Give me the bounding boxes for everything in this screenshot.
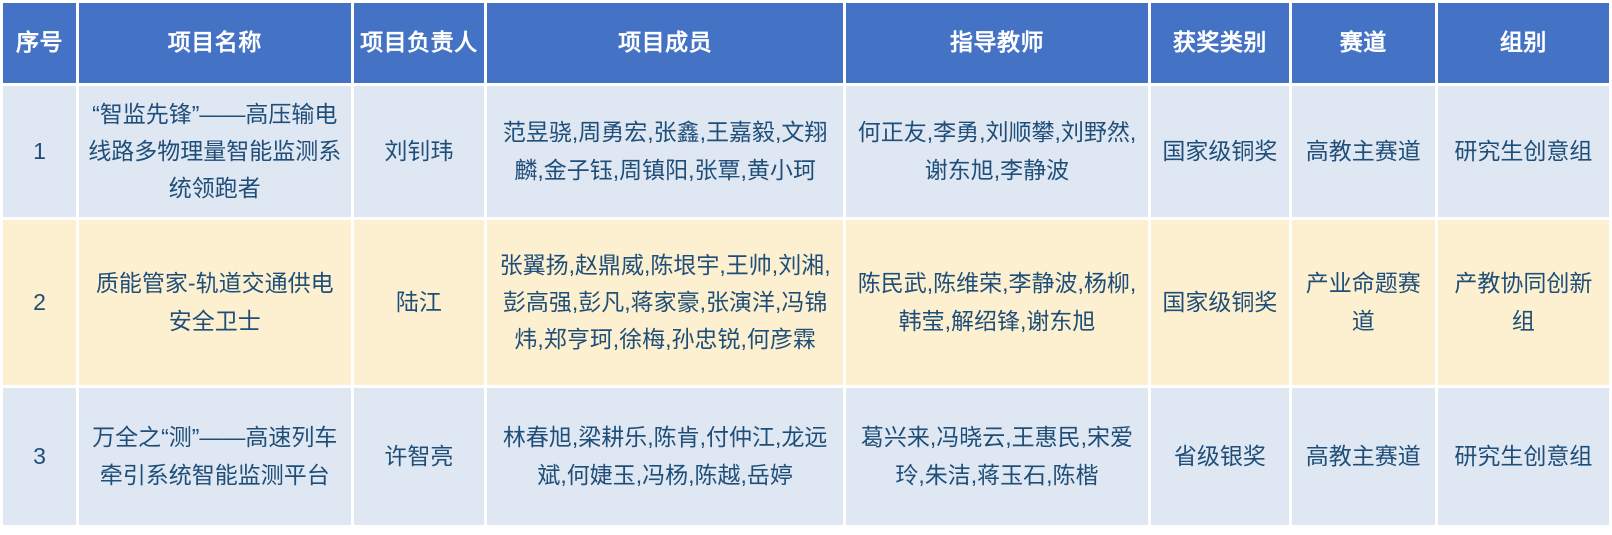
cell-group: 产教协同创新组 xyxy=(1438,220,1609,385)
cell-members: 范昱骁,周勇宏,张鑫,王嘉毅,文翔麟,金子钰,周镇阳,张覃,黄小珂 xyxy=(487,86,843,217)
cell-index: 2 xyxy=(3,220,76,385)
column-header-teacher: 指导教师 xyxy=(846,3,1148,83)
table-row: 3 万全之“测”——高速列车牵引系统智能监测平台 许智亮 林春旭,梁耕乐,陈肯,… xyxy=(3,388,1609,525)
column-header-group: 组别 xyxy=(1438,3,1609,83)
table-row: 2 质能管家-轨道交通供电安全卫士 陆江 张翼扬,赵鼎威,陈垠宇,王帅,刘湘,彭… xyxy=(3,220,1609,385)
cell-leader: 陆江 xyxy=(354,220,485,385)
cell-track: 高教主赛道 xyxy=(1292,86,1435,217)
column-header-index: 序号 xyxy=(3,3,76,83)
column-header-track: 赛道 xyxy=(1292,3,1435,83)
cell-group: 研究生创意组 xyxy=(1438,388,1609,525)
cell-award: 国家级铜奖 xyxy=(1151,86,1289,217)
awards-table: 序号 项目名称 项目负责人 项目成员 指导教师 获奖类别 赛道 组别 1 “智监… xyxy=(0,0,1612,528)
cell-award: 国家级铜奖 xyxy=(1151,220,1289,385)
cell-members: 林春旭,梁耕乐,陈肯,付仲江,龙远斌,何婕玉,冯杨,陈越,岳婷 xyxy=(487,388,843,525)
cell-leader: 许智亮 xyxy=(354,388,485,525)
cell-award: 省级银奖 xyxy=(1151,388,1289,525)
cell-track: 产业命题赛道 xyxy=(1292,220,1435,385)
cell-index: 1 xyxy=(3,86,76,217)
cell-name: 质能管家-轨道交通供电安全卫士 xyxy=(79,220,351,385)
cell-index: 3 xyxy=(3,388,76,525)
table-row: 1 “智监先锋”——高压输电线路多物理量智能监测系统领跑者 刘钊玮 范昱骁,周勇… xyxy=(3,86,1609,217)
column-header-name: 项目名称 xyxy=(79,3,351,83)
table-header: 序号 项目名称 项目负责人 项目成员 指导教师 获奖类别 赛道 组别 xyxy=(3,3,1609,83)
column-header-members: 项目成员 xyxy=(487,3,843,83)
cell-track: 高教主赛道 xyxy=(1292,388,1435,525)
cell-group: 研究生创意组 xyxy=(1438,86,1609,217)
cell-teacher: 葛兴来,冯晓云,王惠民,宋爱玲,朱洁,蒋玉石,陈楷 xyxy=(846,388,1148,525)
cell-name: “智监先锋”——高压输电线路多物理量智能监测系统领跑者 xyxy=(79,86,351,217)
cell-members: 张翼扬,赵鼎威,陈垠宇,王帅,刘湘,彭高强,彭凡,蒋家豪,张演洋,冯锦炜,郑亨珂… xyxy=(487,220,843,385)
header-row: 序号 项目名称 项目负责人 项目成员 指导教师 获奖类别 赛道 组别 xyxy=(3,3,1609,83)
cell-teacher: 陈民武,陈维荣,李静波,杨柳,韩莹,解绍锋,谢东旭 xyxy=(846,220,1148,385)
cell-name: 万全之“测”——高速列车牵引系统智能监测平台 xyxy=(79,388,351,525)
column-header-leader: 项目负责人 xyxy=(354,3,485,83)
cell-leader: 刘钊玮 xyxy=(354,86,485,217)
table-body: 1 “智监先锋”——高压输电线路多物理量智能监测系统领跑者 刘钊玮 范昱骁,周勇… xyxy=(3,86,1609,525)
column-header-award: 获奖类别 xyxy=(1151,3,1289,83)
cell-teacher: 何正友,李勇,刘顺攀,刘野然,谢东旭,李静波 xyxy=(846,86,1148,217)
